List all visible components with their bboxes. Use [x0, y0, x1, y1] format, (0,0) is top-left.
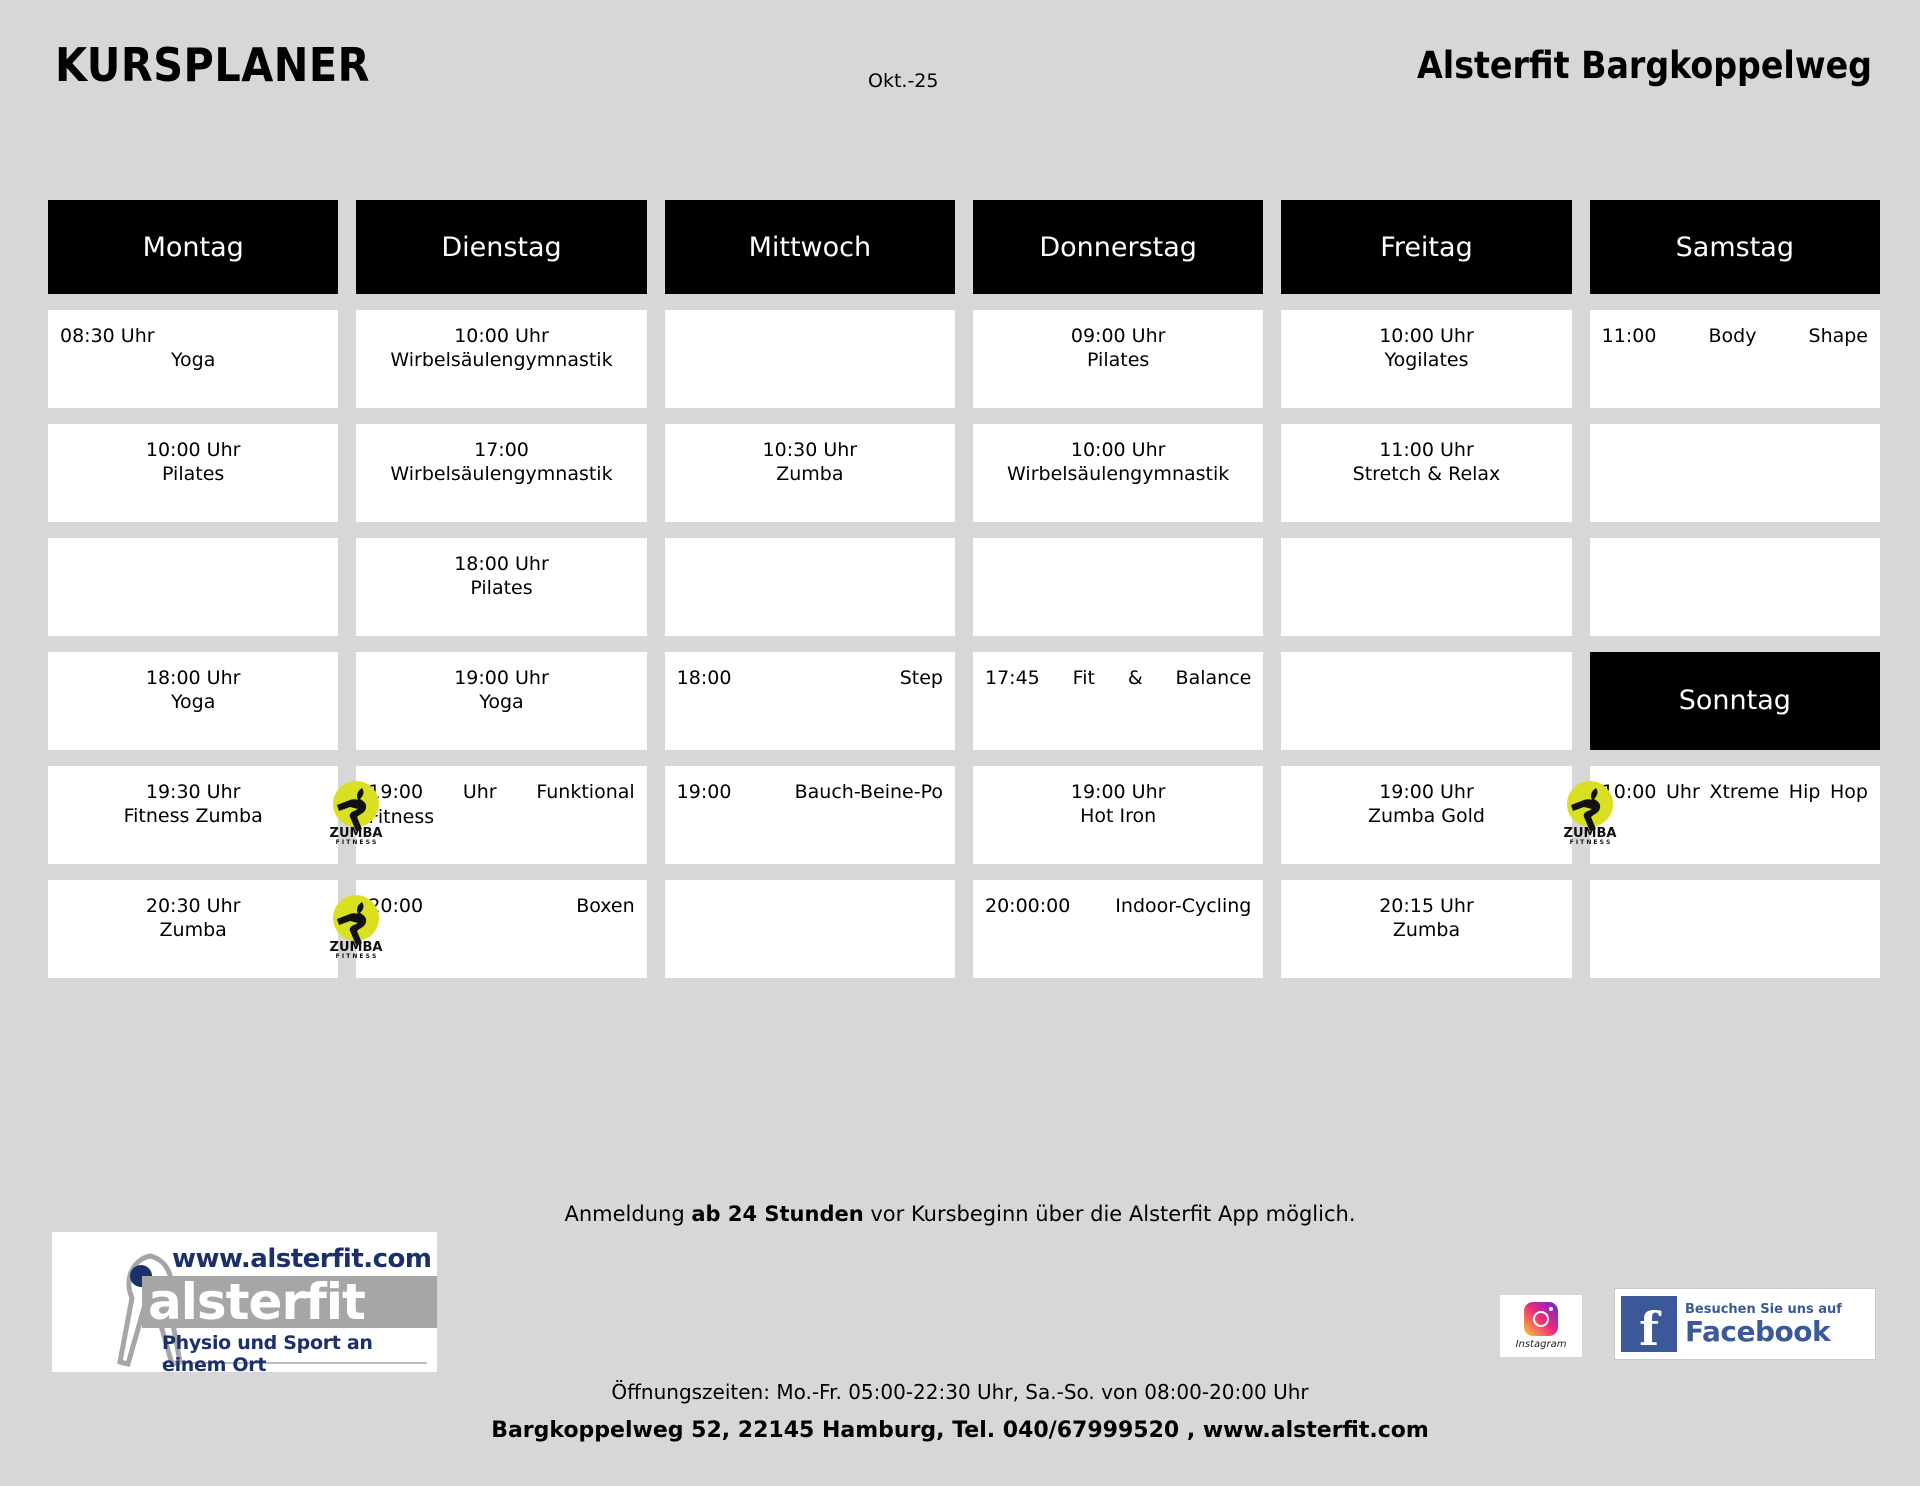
class-name: Bauch-Beine-Po: [795, 781, 943, 803]
page-title: KURSPLANER: [55, 38, 370, 92]
class-slot-mittwoch-5[interactable]: 19:00 Bauch-Beine-Po: [665, 766, 955, 864]
class-text: 19:00 Bauch-Beine-Po: [677, 780, 943, 829]
instagram-icon: [1524, 1302, 1558, 1336]
class-slot-dienstag-5[interactable]: ZUMBAF I T N E S S19:00 Uhr Funktional F…: [356, 766, 646, 864]
class-time: 18:00: [677, 667, 732, 689]
notice-bold: ab 24 Stunden: [691, 1202, 863, 1226]
class-slot-dienstag-6[interactable]: ZUMBAF I T N E S S20:00 Boxen: [356, 880, 646, 978]
class-time: 19:30 Uhr: [60, 780, 326, 804]
class-time: 10:00 Uhr: [985, 438, 1251, 462]
class-name: Pilates: [60, 462, 326, 486]
class-text: 17:45 Fit & Balance: [985, 666, 1251, 715]
class-time: 18:00 Uhr: [368, 552, 634, 576]
class-name: Pilates: [985, 348, 1251, 372]
notice-prefix: Anmeldung: [565, 1202, 692, 1226]
class-slot-mittwoch-2[interactable]: 10:30 UhrZumba: [665, 424, 955, 522]
class-slot-montag-2[interactable]: 10:00 UhrPilates: [48, 424, 338, 522]
day-header-montag: Montag: [48, 200, 338, 294]
svg-text:F I T N E S S: F I T N E S S: [336, 953, 377, 960]
instagram-link[interactable]: Instagram: [1500, 1295, 1582, 1357]
class-name: Wirbelsäulengymnastik: [368, 348, 634, 372]
day-header-freitag: Freitag: [1281, 200, 1571, 294]
class-slot-freitag-5[interactable]: 19:00 UhrZumba Gold: [1281, 766, 1571, 864]
alsterfit-tagline: Physio und Sport an einem Ort: [162, 1332, 437, 1372]
day-header-mittwoch: Mittwoch: [665, 200, 955, 294]
day-header-donnerstag: Donnerstag: [973, 200, 1263, 294]
day-column-samstag: Samstag11:00 Body ShapeSonntagZUMBAF I T…: [1590, 200, 1880, 994]
class-time: 18:00 Uhr: [60, 666, 326, 690]
alsterfit-wordmark: alsterfit: [148, 1276, 365, 1328]
class-time: 10:00 Uhr: [60, 438, 326, 462]
class-slot-donnerstag-3: [973, 538, 1263, 636]
class-slot-mittwoch-6: [665, 880, 955, 978]
class-slot-donnerstag-2[interactable]: 10:00 UhrWirbelsäulengymnastik: [973, 424, 1263, 522]
class-time: 17:00: [368, 438, 634, 462]
class-slot-dienstag-1[interactable]: 10:00 UhrWirbelsäulengymnastik: [356, 310, 646, 408]
class-name: Fit & Balance: [1073, 667, 1252, 689]
class-name: Zumba: [677, 462, 943, 486]
class-text: 20:00:00 Indoor-Cycling: [985, 894, 1251, 943]
class-slot-donnerstag-6[interactable]: 20:00:00 Indoor-Cycling: [973, 880, 1263, 978]
class-slot-freitag-6[interactable]: 20:15 UhrZumba: [1281, 880, 1571, 978]
class-name: Yoga: [60, 690, 326, 714]
class-time: 19:00: [677, 781, 732, 803]
class-time: 09:00 Uhr: [985, 324, 1251, 348]
class-time: 11:00 Uhr: [1293, 438, 1559, 462]
class-slot-montag-6[interactable]: 20:30 UhrZumba: [48, 880, 338, 978]
studio-name: Alsterfit Bargkoppelweg: [1417, 44, 1872, 87]
day-header-sonntag: Sonntag: [1590, 652, 1880, 750]
instagram-label: Instagram: [1516, 1339, 1567, 1350]
class-text: 19:00 Uhr Funktional Fitness: [368, 780, 634, 854]
sunday-header-cell: Sonntag: [1590, 652, 1880, 750]
class-slot-montag-3: [48, 538, 338, 636]
facebook-title: Facebook: [1685, 1317, 1842, 1346]
address-line: Bargkoppelweg 52, 22145 Hamburg, Tel. 04…: [0, 1418, 1920, 1443]
class-text: 11:00 Body Shape: [1602, 324, 1868, 373]
class-time: 20:00:00: [985, 895, 1070, 917]
day-column-dienstag: Dienstag10:00 UhrWirbelsäulengymnastik17…: [356, 200, 646, 994]
class-name: Pilates: [368, 576, 634, 600]
class-name: Yoga: [60, 348, 326, 372]
class-slot-samstag-1[interactable]: 11:00 Body Shape: [1590, 310, 1880, 408]
class-slot-donnerstag-1[interactable]: 09:00 UhrPilates: [973, 310, 1263, 408]
alsterfit-logo: www.alsterfit.com alsterfit Physio und S…: [52, 1232, 437, 1372]
class-slot-dienstag-2[interactable]: 17:00Wirbelsäulengymnastik: [356, 424, 646, 522]
class-name: Yogilates: [1293, 348, 1559, 372]
class-slot-montag-1[interactable]: 08:30 UhrYoga: [48, 310, 338, 408]
class-slot-samstag-6: [1590, 880, 1880, 978]
class-time: 10:00 Uhr: [1602, 781, 1700, 803]
facebook-text: Besuchen Sie uns auf Facebook: [1685, 1302, 1842, 1346]
registration-notice: Anmeldung ab 24 Stunden vor Kursbeginn ü…: [0, 1202, 1920, 1226]
class-name: Zumba: [1293, 918, 1559, 942]
class-slot-montag-5[interactable]: 19:30 UhrFitness Zumba: [48, 766, 338, 864]
class-time: 17:45: [985, 667, 1040, 689]
day-header-dienstag: Dienstag: [356, 200, 646, 294]
month-label: Okt.-25: [868, 70, 938, 92]
class-slot-dienstag-3[interactable]: 18:00 UhrPilates: [356, 538, 646, 636]
class-text: 20:00 Boxen: [368, 894, 634, 943]
class-slot-montag-4[interactable]: 18:00 UhrYoga: [48, 652, 338, 750]
schedule-grid: Montag08:30 UhrYoga10:00 UhrPilates18:00…: [48, 200, 1880, 994]
class-time: 10:00 Uhr: [368, 324, 634, 348]
class-slot-donnerstag-4[interactable]: 17:45 Fit & Balance: [973, 652, 1263, 750]
class-name: Step: [900, 667, 943, 689]
day-column-donnerstag: Donnerstag09:00 UhrPilates10:00 UhrWirbe…: [973, 200, 1263, 994]
class-time: 19:00 Uhr: [1293, 780, 1559, 804]
svg-text:F I T N E S S: F I T N E S S: [1569, 839, 1610, 846]
notice-suffix: vor Kursbeginn über die Alsterfit App mö…: [864, 1202, 1356, 1226]
class-name: Zumba Gold: [1293, 804, 1559, 828]
class-time: 20:30 Uhr: [60, 894, 326, 918]
class-time: 20:00: [368, 895, 423, 917]
class-slot-samstag-3: [1590, 538, 1880, 636]
class-name: Xtreme Hip Hop: [1709, 781, 1868, 803]
class-slot-samstag-2: [1590, 424, 1880, 522]
class-name: Stretch & Relax: [1293, 462, 1559, 486]
class-slot-freitag-1[interactable]: 10:00 UhrYogilates: [1281, 310, 1571, 408]
opening-hours: Öffnungszeiten: Mo.-Fr. 05:00-22:30 Uhr,…: [0, 1380, 1920, 1404]
class-time: 19:00 Uhr: [368, 781, 496, 803]
class-text: 18:00 Step: [677, 666, 943, 715]
class-name: Wirbelsäulengymnastik: [985, 462, 1251, 486]
facebook-icon: f: [1621, 1296, 1677, 1352]
alsterfit-url: www.alsterfit.com: [172, 1244, 432, 1274]
class-time: 19:00 Uhr: [368, 666, 634, 690]
class-text: 10:00 Uhr Xtreme Hip Hop: [1602, 780, 1868, 829]
class-name: Boxen: [576, 895, 634, 917]
class-time: 10:00 Uhr: [1293, 324, 1559, 348]
class-slot-freitag-4: [1281, 652, 1571, 750]
class-slot-freitag-3: [1281, 538, 1571, 636]
class-name: Body Shape: [1708, 325, 1868, 347]
class-name: Fitness Zumba: [60, 804, 326, 828]
class-name: Indoor-Cycling: [1115, 895, 1251, 917]
class-name: Zumba: [60, 918, 326, 942]
class-time: 19:00 Uhr: [985, 780, 1251, 804]
facebook-link[interactable]: f Besuchen Sie uns auf Facebook: [1614, 1288, 1876, 1360]
page-header: KURSPLANER Okt.-25 Alsterfit Bargkoppelw…: [0, 0, 1920, 140]
class-name: Hot Iron: [985, 804, 1251, 828]
day-column-montag: Montag08:30 UhrYoga10:00 UhrPilates18:00…: [48, 200, 338, 994]
class-time: 08:30 Uhr: [60, 324, 326, 348]
class-time: 11:00: [1602, 325, 1657, 347]
day-column-mittwoch: Mittwoch10:30 UhrZumba18:00 Step19:00 Ba…: [665, 200, 955, 994]
class-name: Wirbelsäulengymnastik: [368, 462, 634, 486]
day-column-freitag: Freitag10:00 UhrYogilates11:00 UhrStretc…: [1281, 200, 1571, 994]
class-slot-samstag-5[interactable]: ZUMBAF I T N E S S10:00 Uhr Xtreme Hip H…: [1590, 766, 1880, 864]
class-slot-mittwoch-3: [665, 538, 955, 636]
class-slot-mittwoch-4[interactable]: 18:00 Step: [665, 652, 955, 750]
class-time: 10:30 Uhr: [677, 438, 943, 462]
class-name: Yoga: [368, 690, 634, 714]
class-slot-freitag-2[interactable]: 11:00 UhrStretch & Relax: [1281, 424, 1571, 522]
class-time: 20:15 Uhr: [1293, 894, 1559, 918]
class-slot-mittwoch-1: [665, 310, 955, 408]
class-slot-donnerstag-5[interactable]: 19:00 UhrHot Iron: [973, 766, 1263, 864]
class-slot-dienstag-4[interactable]: 19:00 UhrYoga: [356, 652, 646, 750]
day-header-samstag: Samstag: [1590, 200, 1880, 294]
